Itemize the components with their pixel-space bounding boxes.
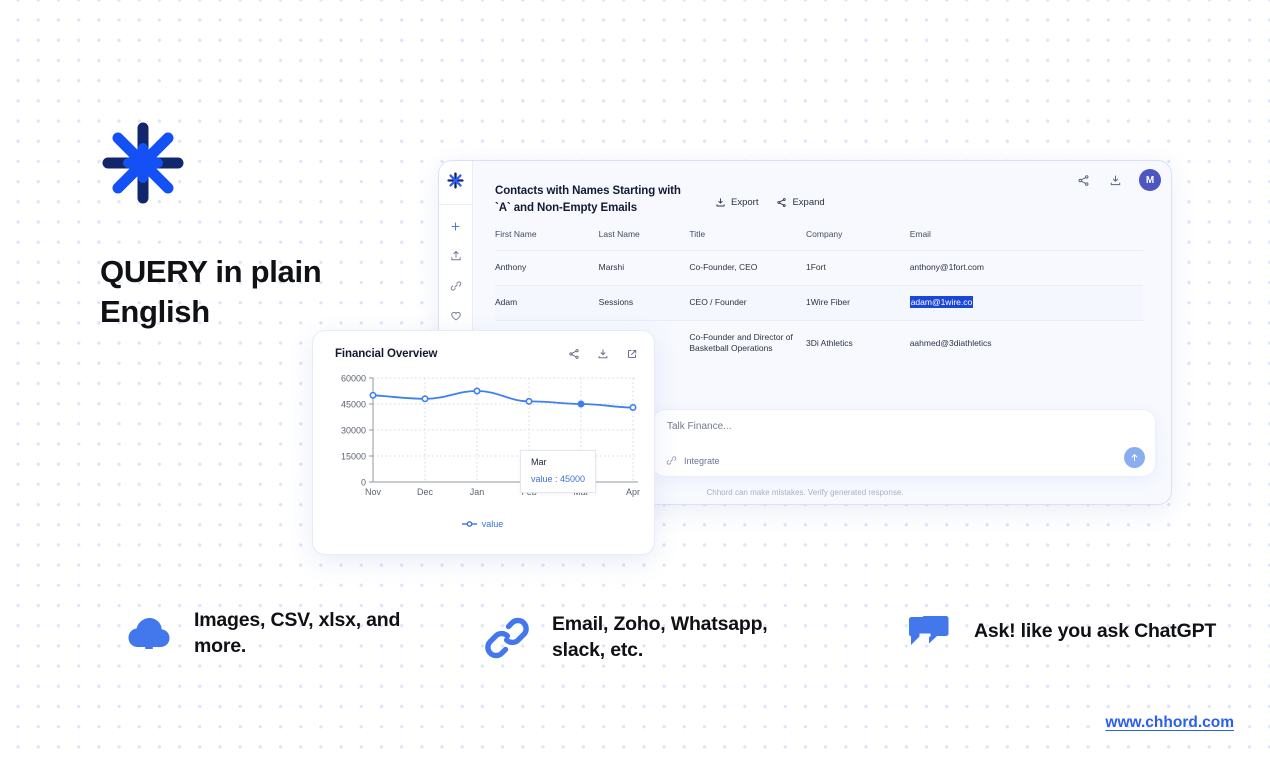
feature-item-integrations: Email, Zoho, Whatsapp, slack, etc. [483, 612, 813, 664]
cell-first-name: Anthony [495, 250, 599, 285]
hero-title: QUERY in plain English [100, 252, 340, 332]
ytick-60000: 60000 [341, 374, 366, 384]
download-icon [715, 197, 726, 208]
feature-label: Images, CSV, xlsx, and more. [194, 608, 455, 660]
upload-icon[interactable] [445, 245, 467, 267]
chart-header: Financial Overview [325, 347, 640, 360]
feature-label: Ask! like you ask ChatGPT [974, 619, 1216, 645]
integrate-button[interactable]: Integrate [666, 455, 720, 466]
chat-input-placeholder[interactable]: Talk Finance... [667, 421, 731, 432]
link-icon[interactable] [445, 275, 467, 297]
cell-title: Co-Founder, CEO [689, 250, 806, 285]
result-title: Contacts with Names Starting with `A` an… [495, 183, 695, 216]
cell-title: CEO / Founder [689, 285, 806, 320]
chart-tooltip: Mar value : 45000 [520, 450, 596, 493]
chart-line-series-value [373, 391, 633, 408]
plus-icon[interactable] [445, 215, 467, 237]
tooltip-label: Mar [531, 457, 585, 467]
table-row[interactable]: Anthony Marshi Co-Founder, CEO 1Fort ant… [495, 250, 1143, 285]
export-label: Export [731, 197, 758, 208]
cell-last-name: Marshi [599, 250, 690, 285]
footer-url-link[interactable]: www.chhord.com [1105, 714, 1234, 732]
chart-legend[interactable]: value [325, 519, 640, 529]
sidebar-divider [439, 204, 472, 205]
column-header-company[interactable]: Company [806, 229, 910, 250]
export-button[interactable]: Export [715, 197, 758, 208]
integrate-label: Integrate [684, 456, 720, 466]
cell-company: 3Di Athletics [806, 320, 910, 366]
chat-bubbles-icon [905, 608, 952, 655]
table-row[interactable]: Adam Sessions CEO / Founder 1Wire Fiber … [495, 285, 1143, 320]
ytick-30000: 30000 [341, 426, 366, 436]
share-icon[interactable] [567, 347, 580, 360]
selected-email-text: adam@1wire.co [910, 296, 974, 308]
column-header-email[interactable]: Email [910, 229, 1143, 250]
expand-button[interactable]: Expand [776, 197, 824, 208]
feature-item-upload: Images, CSV, xlsx, and more. [125, 608, 455, 660]
cell-title: Co-Founder and Director of Basketball Op… [689, 320, 806, 366]
chat-composer[interactable]: Talk Finance... Integrate [652, 409, 1156, 477]
ytick-15000: 15000 [341, 452, 366, 462]
cell-last-name: Sessions [599, 285, 690, 320]
xtick-jan: Jan [470, 487, 485, 497]
hero-section: QUERY in plain English [100, 120, 440, 332]
xtick-apr: Apr [626, 487, 640, 497]
chhord-starburst-icon[interactable] [447, 172, 464, 194]
xtick-dec: Dec [417, 487, 434, 497]
cell-company: 1Fort [806, 250, 910, 285]
share-icon [776, 197, 787, 208]
feature-item-ask: Ask! like you ask ChatGPT [905, 608, 1225, 655]
cell-email-selected[interactable]: adam@1wire.co [910, 285, 1143, 320]
chhord-starburst-icon [100, 120, 186, 206]
chart-svg: 60000 45000 30000 15000 0 Nov Dec Jan Fe… [325, 370, 642, 515]
chart-actions [567, 347, 638, 360]
chart-card: Financial Overview [312, 330, 655, 555]
cell-company: 1Wire Fiber [806, 285, 910, 320]
column-header-title[interactable]: Title [689, 229, 806, 250]
ytick-45000: 45000 [341, 400, 366, 410]
link-icon [666, 455, 677, 466]
legend-label: value [482, 519, 504, 529]
heart-icon[interactable] [445, 305, 467, 327]
legend-marker-icon [462, 520, 477, 528]
external-link-icon[interactable] [625, 347, 638, 360]
line-chart-plot: 60000 45000 30000 15000 0 Nov Dec Jan Fe… [325, 370, 642, 515]
chart-data-points [370, 388, 635, 410]
column-header-last-name[interactable]: Last Name [599, 229, 690, 250]
tooltip-value: value : 45000 [531, 474, 585, 484]
send-button[interactable] [1124, 447, 1145, 468]
cell-first-name: Adam [495, 285, 599, 320]
chart-title: Financial Overview [335, 348, 437, 360]
table-header-row: First Name Last Name Title Company Email [495, 229, 1143, 250]
column-header-first-name[interactable]: First Name [495, 229, 599, 250]
xtick-nov: Nov [365, 487, 382, 497]
download-icon[interactable] [596, 347, 609, 360]
cell-email: anthony@1fort.com [910, 250, 1143, 285]
feature-label: Email, Zoho, Whatsapp, slack, etc. [552, 612, 813, 664]
expand-label: Expand [792, 197, 824, 208]
result-actions: Export Expand [715, 183, 825, 208]
cloud-upload-icon [125, 610, 172, 657]
result-header: Contacts with Names Starting with `A` an… [495, 183, 1143, 216]
link-chain-icon [483, 614, 530, 661]
cell-email: aahmed@3diathletics [910, 320, 1143, 366]
ytick-0: 0 [361, 478, 366, 488]
